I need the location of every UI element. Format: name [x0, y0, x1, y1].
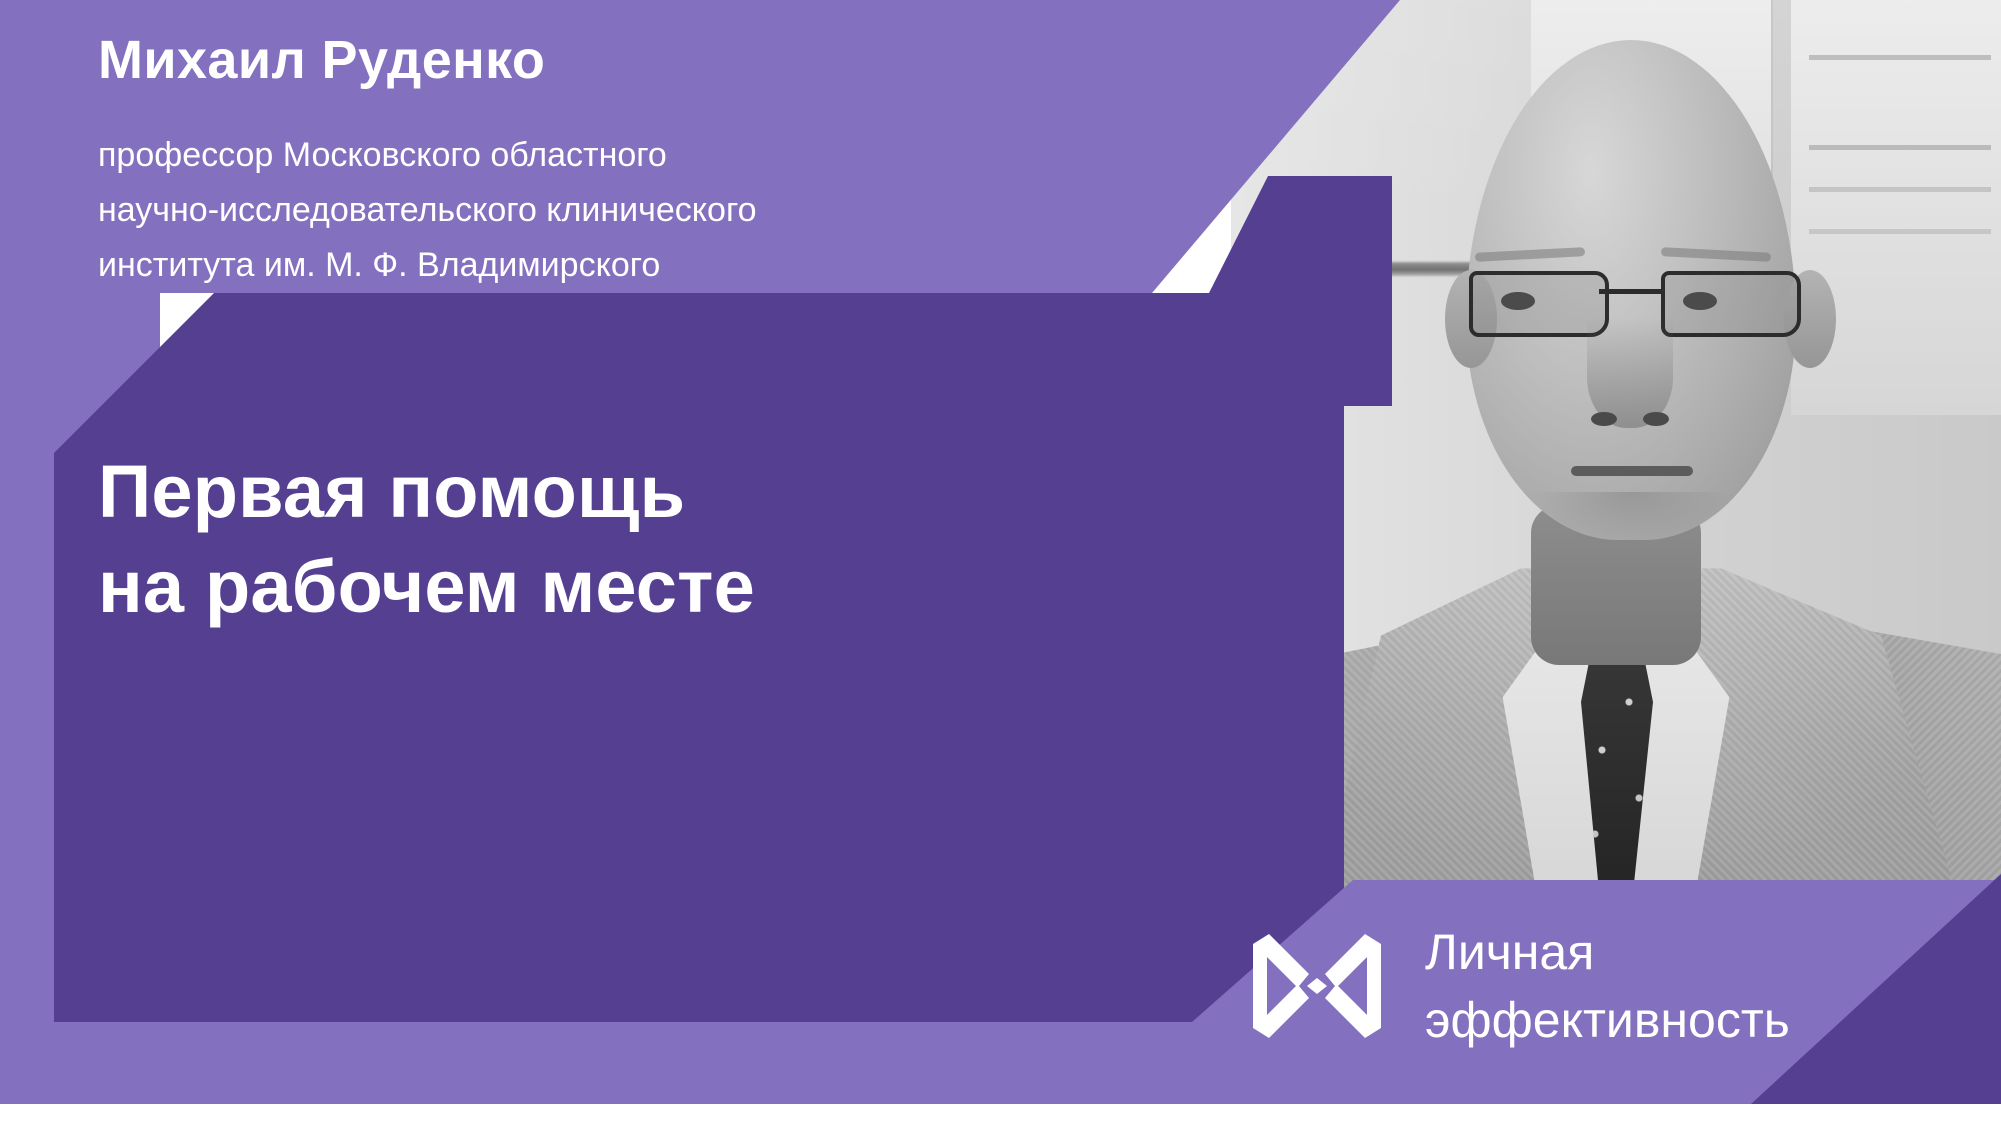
brand-name-line-2: эффективность — [1425, 986, 1790, 1054]
speaker-name: Михаил Руденко — [98, 28, 545, 93]
speaker-role-line-2: научно-исследовательского клинического — [98, 183, 757, 238]
speaker-portrait-photo — [1231, 0, 2001, 900]
talk-title-line-2: на рабочем месте — [98, 540, 755, 635]
bottom-white-strip — [0, 1104, 2001, 1126]
title-panel — [54, 293, 1344, 1022]
speaker-role-line-1: профессор Московского областного — [98, 128, 757, 183]
speaker-role: профессор Московского областного научно-… — [98, 128, 757, 293]
page-title: Первая помощь на рабочем месте — [98, 445, 755, 634]
bowtie-logo-icon — [1253, 934, 1381, 1038]
brand-name-line-1: Личная — [1425, 918, 1790, 986]
portrait-background — [1231, 0, 2001, 900]
title-slide: Михаил Руденко профессор Московского обл… — [0, 0, 2001, 1126]
brand-name: Личная эффективность — [1425, 918, 1790, 1054]
talk-title-line-1: Первая помощь — [98, 445, 755, 540]
speaker-role-line-3: института им. М. Ф. Владимирского — [98, 238, 757, 293]
brand-lockup: Личная эффективность — [1253, 918, 1790, 1054]
